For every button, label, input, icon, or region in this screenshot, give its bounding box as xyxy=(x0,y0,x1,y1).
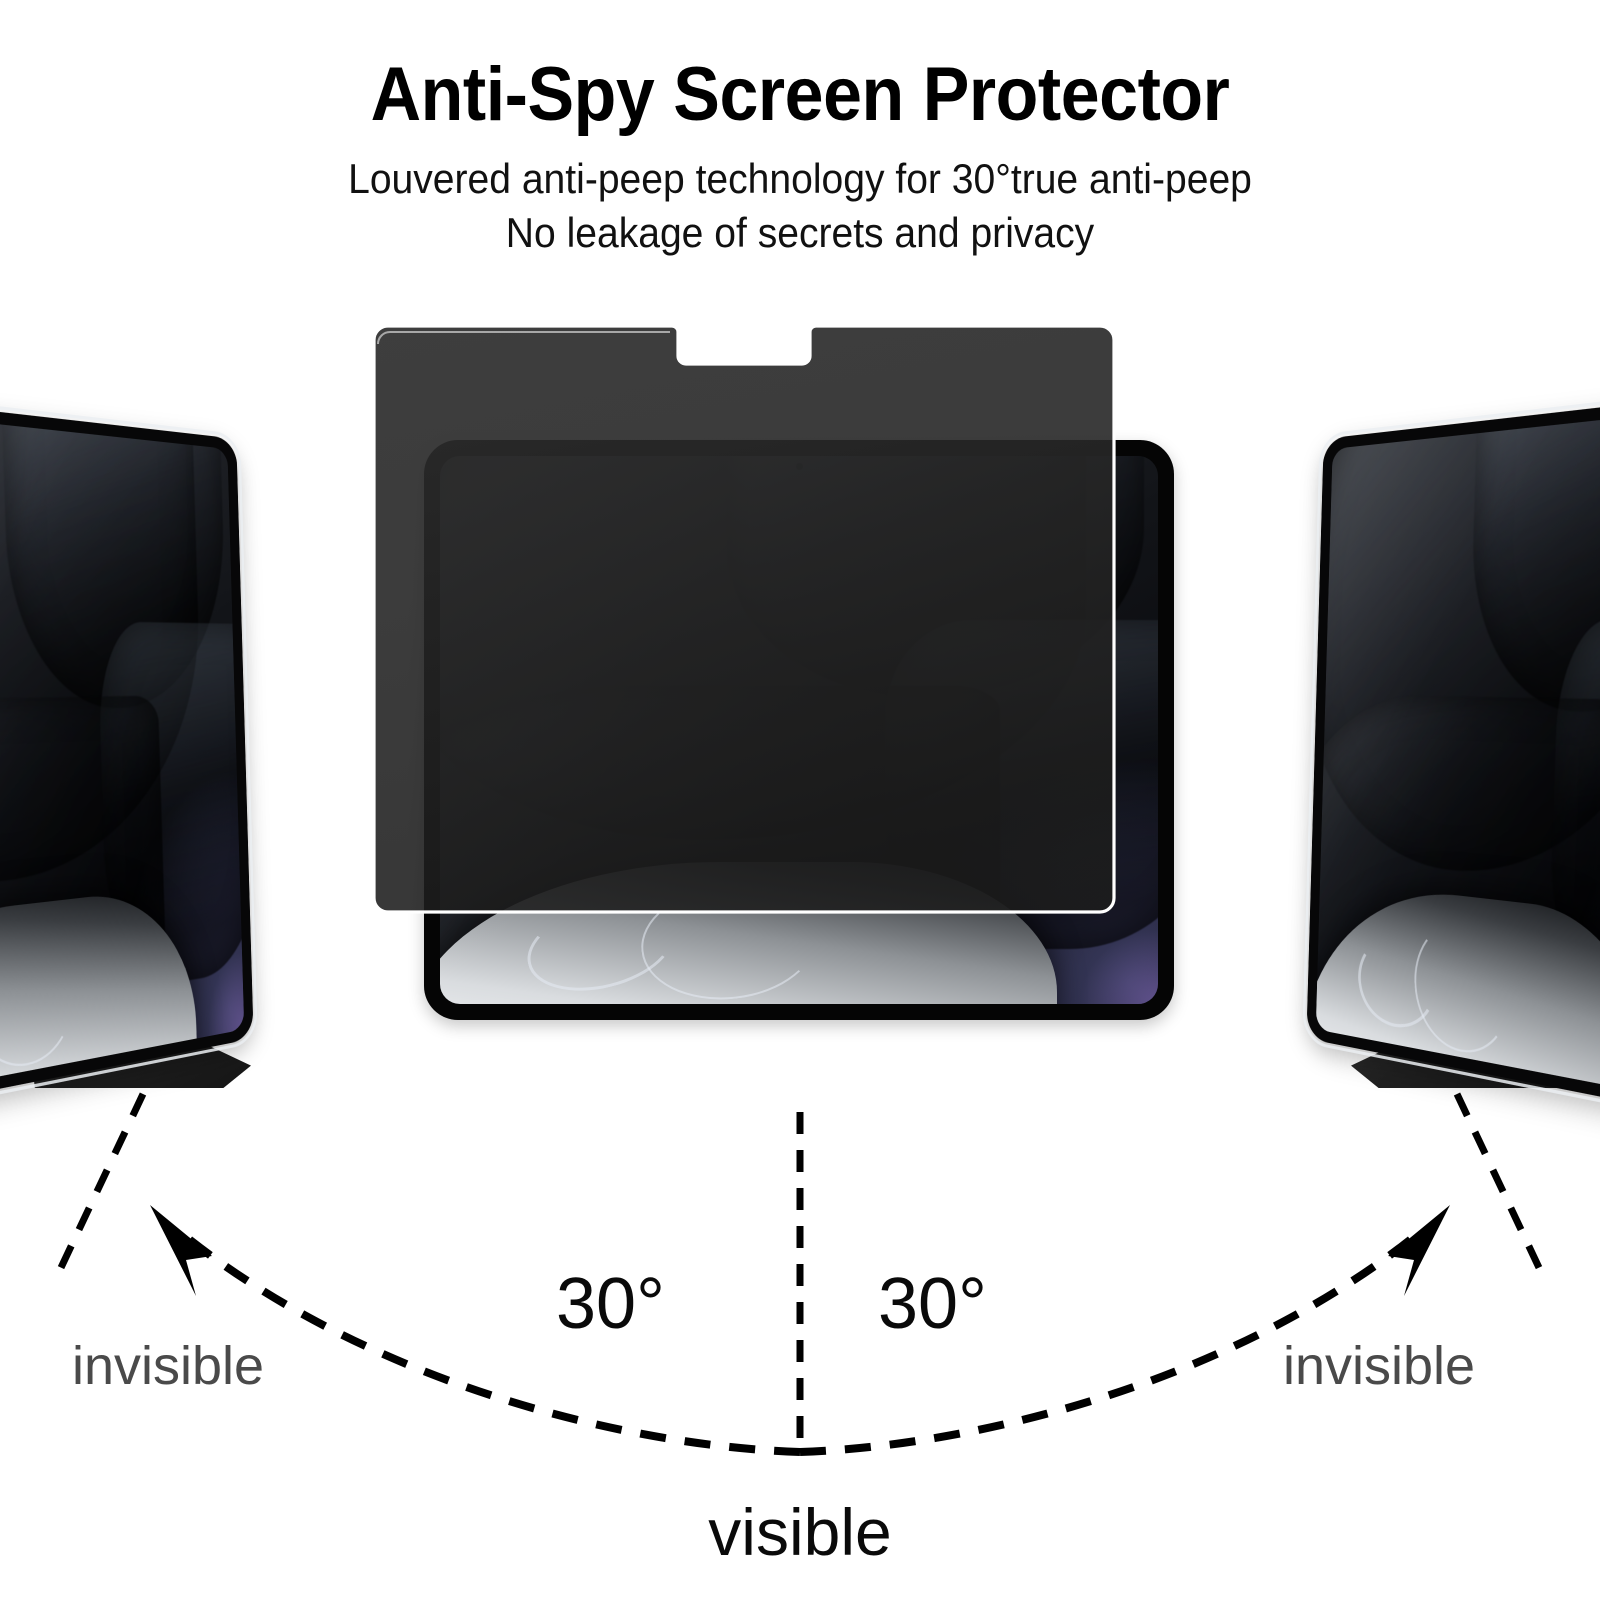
privacy-film-sheet xyxy=(374,326,1114,912)
tablet-screen-left xyxy=(0,405,244,1106)
boundary-ray-right xyxy=(1457,1094,1542,1274)
sweep-arc-left xyxy=(175,1228,800,1452)
tablet-body-right xyxy=(1306,390,1600,1122)
wallpaper-right xyxy=(1316,405,1600,1106)
viewing-angle-diagram xyxy=(0,1060,1600,1600)
wallpaper-left xyxy=(0,405,244,1106)
boundary-ray-left xyxy=(58,1094,143,1274)
privacy-film-overlay xyxy=(360,320,1128,920)
tablet-angled-left xyxy=(0,440,285,1080)
sweep-arc-right xyxy=(800,1228,1425,1452)
tablet-angled-right xyxy=(1315,440,1600,1080)
tablet-body-left xyxy=(0,390,254,1122)
arrowhead-right xyxy=(1388,1205,1450,1296)
arrowhead-left xyxy=(150,1205,212,1296)
tablet-screen-right xyxy=(1316,405,1600,1106)
